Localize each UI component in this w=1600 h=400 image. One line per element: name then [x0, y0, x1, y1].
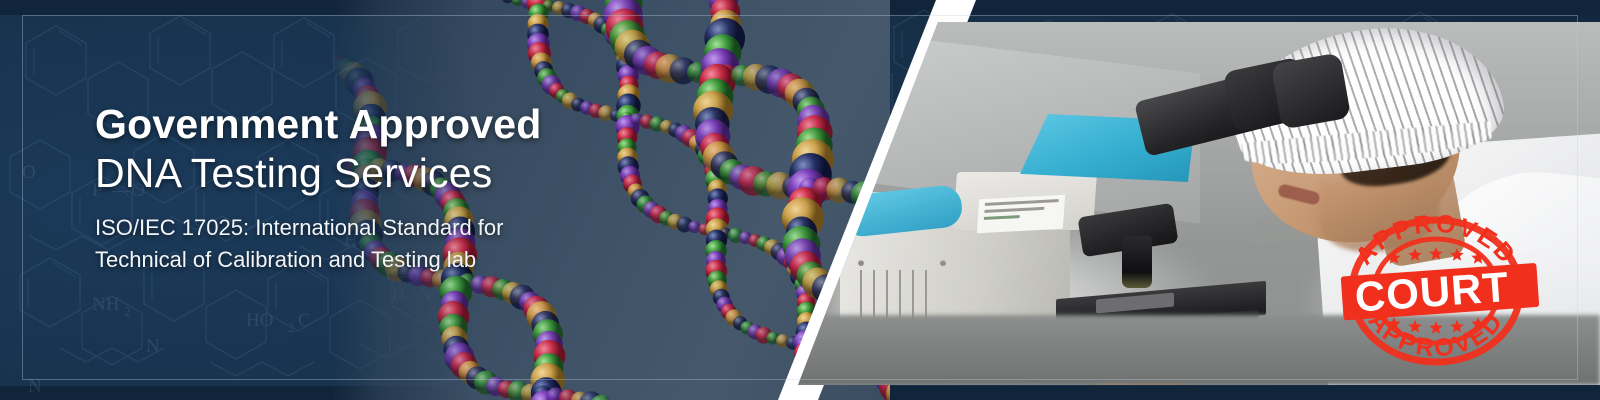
microscope-screw [940, 260, 946, 266]
court-approved-stamp: APPROVED APPROVED COURT [1328, 212, 1544, 370]
dna-base-sphere [688, 221, 700, 233]
subtitle-line-1: ISO/IEC 17025: International Standard fo… [95, 213, 542, 242]
svg-text:C: C [298, 310, 311, 331]
headline-line-1: Government Approved [95, 104, 542, 146]
svg-text:N: N [146, 336, 160, 357]
svg-text:2: 2 [288, 320, 295, 335]
microscope-label [977, 195, 1065, 234]
svg-text:HO: HO [246, 310, 273, 331]
microscope-screw [858, 260, 864, 266]
headline-block: Government Approved DNA Testing Services… [95, 104, 542, 274]
svg-text:N: N [28, 376, 42, 397]
subtitle-line-2: Technical of Calibration and Testing lab [95, 245, 542, 274]
stamp-star [1450, 248, 1463, 261]
headline-line-2: DNA Testing Services [95, 149, 542, 197]
stamp-star [1429, 321, 1442, 334]
stamp-star [1471, 251, 1484, 264]
stamp-star [1408, 248, 1421, 261]
svg-text:2: 2 [124, 304, 131, 319]
promo-banner: NH2 HO2C H H2N CO2H NO OH P—O O N C=C NH… [0, 0, 1600, 400]
stamp-star [1387, 251, 1400, 264]
svg-text:O: O [22, 162, 36, 183]
svg-text:NH: NH [92, 294, 120, 315]
microscope-eyepiece [1271, 52, 1351, 129]
microscope-objective-lens [1122, 236, 1152, 288]
stamp-star [1429, 247, 1442, 260]
